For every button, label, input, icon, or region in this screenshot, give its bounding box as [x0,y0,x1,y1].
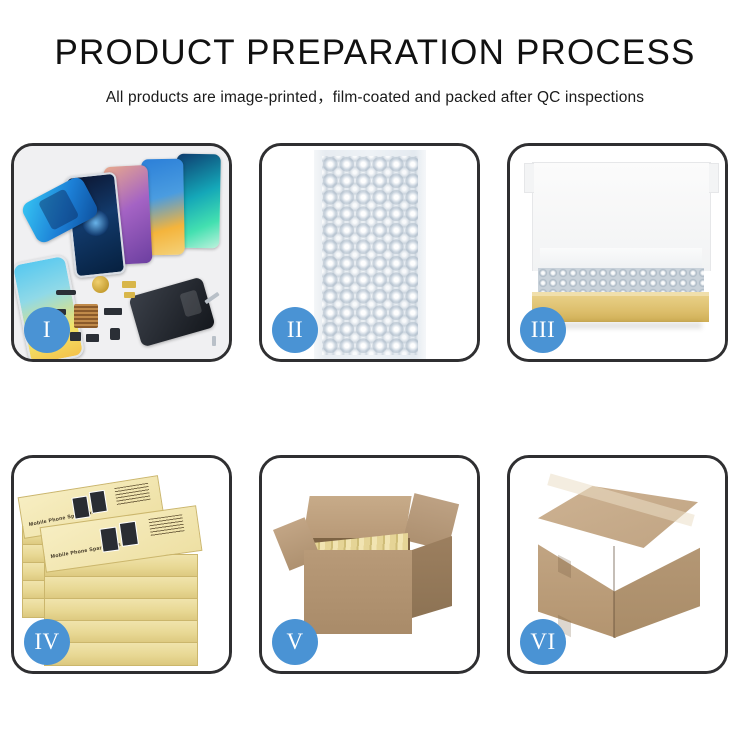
retail-box-front-2 [44,576,198,600]
retail-box-spec-lines-lower [148,514,184,537]
process-step-panel-1[interactable]: I [11,143,232,362]
retail-box-front-3 [44,598,198,622]
retail-box-phone-thumb-3 [99,527,119,553]
retail-box-phone-thumb-2 [89,490,108,514]
process-step-grid: I II III [11,143,728,674]
retail-box-spec-lines-upper [114,483,150,506]
carton-vertical-edge [613,546,615,638]
process-step-panel-4[interactable]: Mobile Phone Spare Parts Mobile Phone Sp… [11,455,232,674]
phone-back-housing-icon [128,277,215,348]
spare-part-chip-grid-icon [74,304,98,328]
spare-part-module-icon [110,328,120,340]
step-badge-5: V [272,619,318,665]
process-step-panel-6[interactable]: VI [507,455,728,674]
page-header: PRODUCT PREPARATION PROCESS All products… [0,0,750,107]
step-badge-4: IV [24,619,70,665]
spare-part-flex-cable-icon [122,281,136,288]
page-title: PRODUCT PREPARATION PROCESS [0,34,750,73]
process-step-panel-2[interactable]: II [259,143,480,362]
page-subtitle: All products are image-printed，film-coat… [0,85,750,107]
spare-part-camera-icon [86,334,99,342]
step-badge-3: III [520,307,566,353]
step-badge-2: II [272,307,318,353]
retail-box-phone-thumb-4 [119,521,139,547]
spare-part-coil-icon [92,276,109,293]
spare-part-flex-cable-2-icon [124,292,135,298]
step-badge-6: VI [520,619,566,665]
process-step-panel-5[interactable]: V [259,455,480,674]
mailer-box-foam-icon [540,248,702,270]
spare-part-screw-icon [212,336,216,346]
bubble-wrap-sheet-icon [314,150,426,359]
carton-front-panel-icon [304,550,412,634]
carton-side-panel-icon [412,536,452,618]
process-step-panel-3[interactable]: III [507,143,728,362]
spare-part-button-icon [70,332,81,341]
process-row-bottom: Mobile Phone Spare Parts Mobile Phone Sp… [11,455,728,674]
step-badge-1: I [24,307,70,353]
bubble-pattern-secondary [322,156,418,355]
retail-box-phone-thumb-1 [71,495,90,519]
spare-part-speaker-icon [56,290,76,295]
spare-part-ribbon-icon [104,308,122,315]
process-row-top: I II III [11,143,728,362]
spare-part-tweezers-icon [204,292,219,304]
